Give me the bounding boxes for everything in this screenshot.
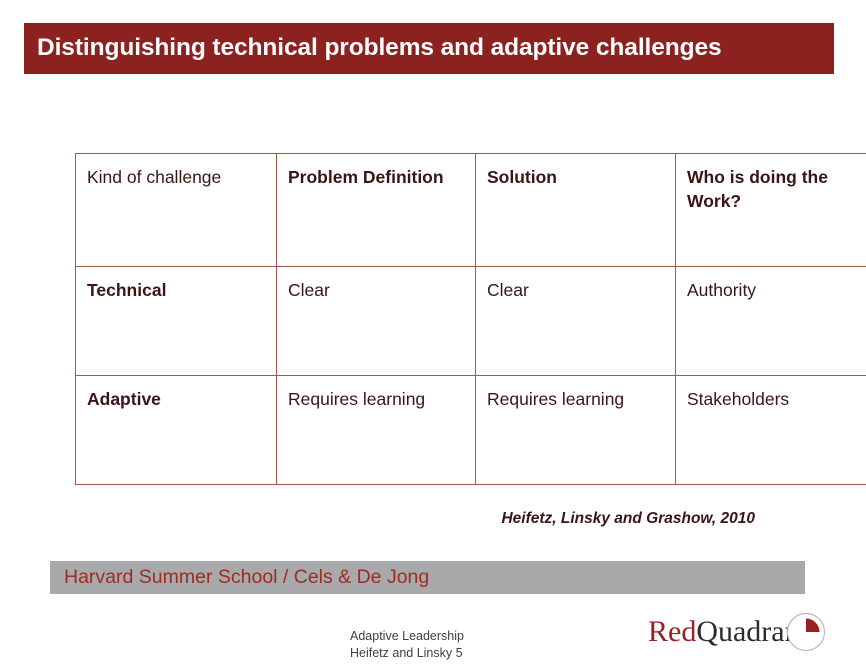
slide-title-banner: Distinguishing technical problems and ad…: [24, 23, 834, 74]
adaptive-problem-definition: Requires learning: [277, 376, 476, 485]
table-header-who-is-doing-work: Who is doing the Work?: [676, 154, 866, 267]
redquadrant-logo: RedQuadrant: [648, 610, 830, 656]
row-label-technical: Technical: [76, 267, 277, 376]
table-row: Technical Clear Clear Authority: [76, 267, 866, 376]
slide-footer-note: Adaptive Leadership Heifetz and Linsky 5: [350, 628, 464, 662]
technical-who-is-doing-work: Authority: [676, 267, 866, 376]
footer-line-1: Adaptive Leadership: [350, 628, 464, 645]
logo-word-red: Red: [648, 615, 696, 648]
table-header-problem-definition: Problem Definition: [277, 154, 476, 267]
table-header-solution: Solution: [476, 154, 676, 267]
course-banner-label: Harvard Summer School / Cels & De Jong: [50, 566, 429, 589]
page-title: Distinguishing technical problems and ad…: [24, 35, 722, 62]
logo-wordmark: RedQuadrant: [648, 612, 808, 652]
quadrant-circle-icon: [786, 612, 826, 652]
course-banner: Harvard Summer School / Cels & De Jong: [50, 561, 805, 594]
footer-line-2: Heifetz and Linsky 5: [350, 645, 464, 662]
row-label-adaptive: Adaptive: [76, 376, 277, 485]
challenge-comparison-table: Kind of challenge Problem Definition Sol…: [75, 153, 866, 485]
table-header-row: Kind of challenge Problem Definition Sol…: [76, 154, 866, 267]
adaptive-who-is-doing-work: Stakeholders: [676, 376, 866, 485]
technical-solution: Clear: [476, 267, 676, 376]
adaptive-solution: Requires learning: [476, 376, 676, 485]
technical-problem-definition: Clear: [277, 267, 476, 376]
table-header-kind-of-challenge: Kind of challenge: [76, 154, 277, 267]
source-citation: Heifetz, Linsky and Grashow, 2010: [0, 510, 755, 528]
table-row: Adaptive Requires learning Requires lear…: [76, 376, 866, 485]
